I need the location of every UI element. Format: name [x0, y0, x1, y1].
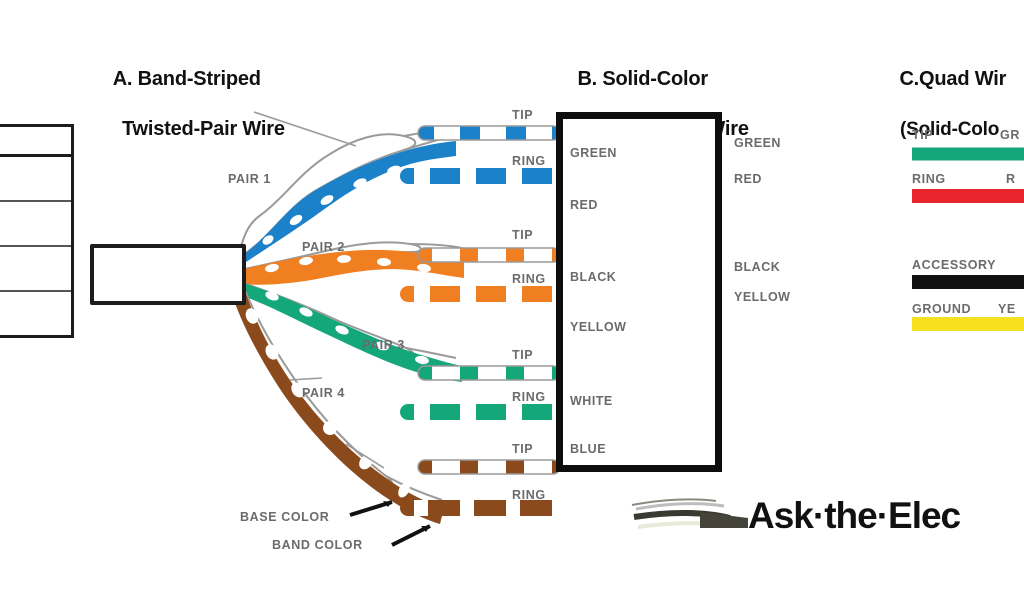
ring-label-pair-1: RING [512, 154, 546, 168]
code-base-2: nge [0, 204, 65, 223]
tip-label-pair-3: TIP [512, 348, 533, 362]
code-table-header: des [0, 127, 71, 157]
table-footnotes: r codes. r codes. [0, 444, 88, 476]
band-color-label: BAND COLOR [272, 538, 363, 552]
b-inside-red: RED [570, 198, 598, 212]
tip-label-pair-4: TIP [512, 442, 533, 456]
footnote-2: r codes. [0, 460, 88, 476]
color-code-table: des e o nge hite en ite wn ite [0, 124, 74, 338]
section-c-line2: (Solid-Colo [878, 117, 1006, 142]
b-outside-green: GREEN [734, 136, 781, 150]
table-row: wn ite [0, 292, 71, 335]
c-right-label-green: GR [1000, 128, 1020, 142]
b-inside-yellow: YELLOW [570, 320, 626, 334]
b-inside-blue: BLUE [570, 442, 606, 456]
pair-1-label: PAIR 1 [228, 172, 271, 186]
section-a-heading: A. Band-Striped Twisted-Pair Wire [92, 42, 285, 192]
section-c-line1: C.Quad Wir [899, 68, 1006, 90]
code-band-1: o [0, 178, 65, 197]
pair-2-label: PAIR 2 [302, 240, 345, 254]
code-base-4: wn [0, 294, 65, 313]
c-right-label-yellow: YE [998, 302, 1016, 316]
ring-label-pair-4: RING [512, 488, 546, 502]
section-b-box [556, 112, 722, 472]
cable-jacket [90, 244, 246, 305]
b-inside-green: GREEN [570, 146, 617, 160]
c-right-label-red: R [1006, 172, 1016, 186]
section-c-heading: C.Quad Wir (Solid-Colo [878, 42, 1006, 192]
ring-label-pair-2: RING [512, 272, 546, 286]
b-inside-black: BLACK [570, 270, 616, 284]
b-outside-yellow: YELLOW [734, 290, 790, 304]
b-outside-red: RED [734, 172, 762, 186]
c-label-tip: TIP [912, 128, 933, 142]
section-a-line2: Twisted-Pair Wire [92, 117, 285, 142]
section-a-line1: A. Band-Striped [113, 68, 261, 90]
ring-label-pair-3: RING [512, 390, 546, 404]
tip-label-pair-2: TIP [512, 228, 533, 242]
pair-4-label: PAIR 4 [302, 386, 345, 400]
section-b-line1: B. Solid-Color [577, 68, 708, 90]
code-base-3: en [0, 249, 65, 268]
code-base-1: e [0, 159, 65, 178]
base-color-label: BASE COLOR [240, 510, 329, 524]
code-band-4: ite [0, 313, 65, 332]
table-row: en ite [0, 247, 71, 292]
table-row: e o [0, 157, 71, 202]
table-row: nge hite [0, 202, 71, 247]
tip-label-pair-1: TIP [512, 108, 533, 122]
b-outside-black: BLACK [734, 260, 780, 274]
footnote-1: r codes. [0, 444, 88, 460]
c-label-ring: RING [912, 172, 946, 186]
cable-logo-icon [632, 499, 748, 528]
b-inside-white: WHITE [570, 394, 613, 408]
diagram-canvas: A. Band-Striped Twisted-Pair Wire B. Sol… [0, 0, 1024, 600]
code-band-3: ite [0, 268, 65, 287]
c-label-accessory: ACCESSORY [912, 258, 996, 272]
c-label-ground: GROUND [912, 302, 971, 316]
pair-3-label: PAIR 3 [362, 338, 405, 352]
ask-the-electrician-logo: Ask·the·Elec [748, 495, 960, 537]
code-band-2: hite [0, 223, 65, 242]
